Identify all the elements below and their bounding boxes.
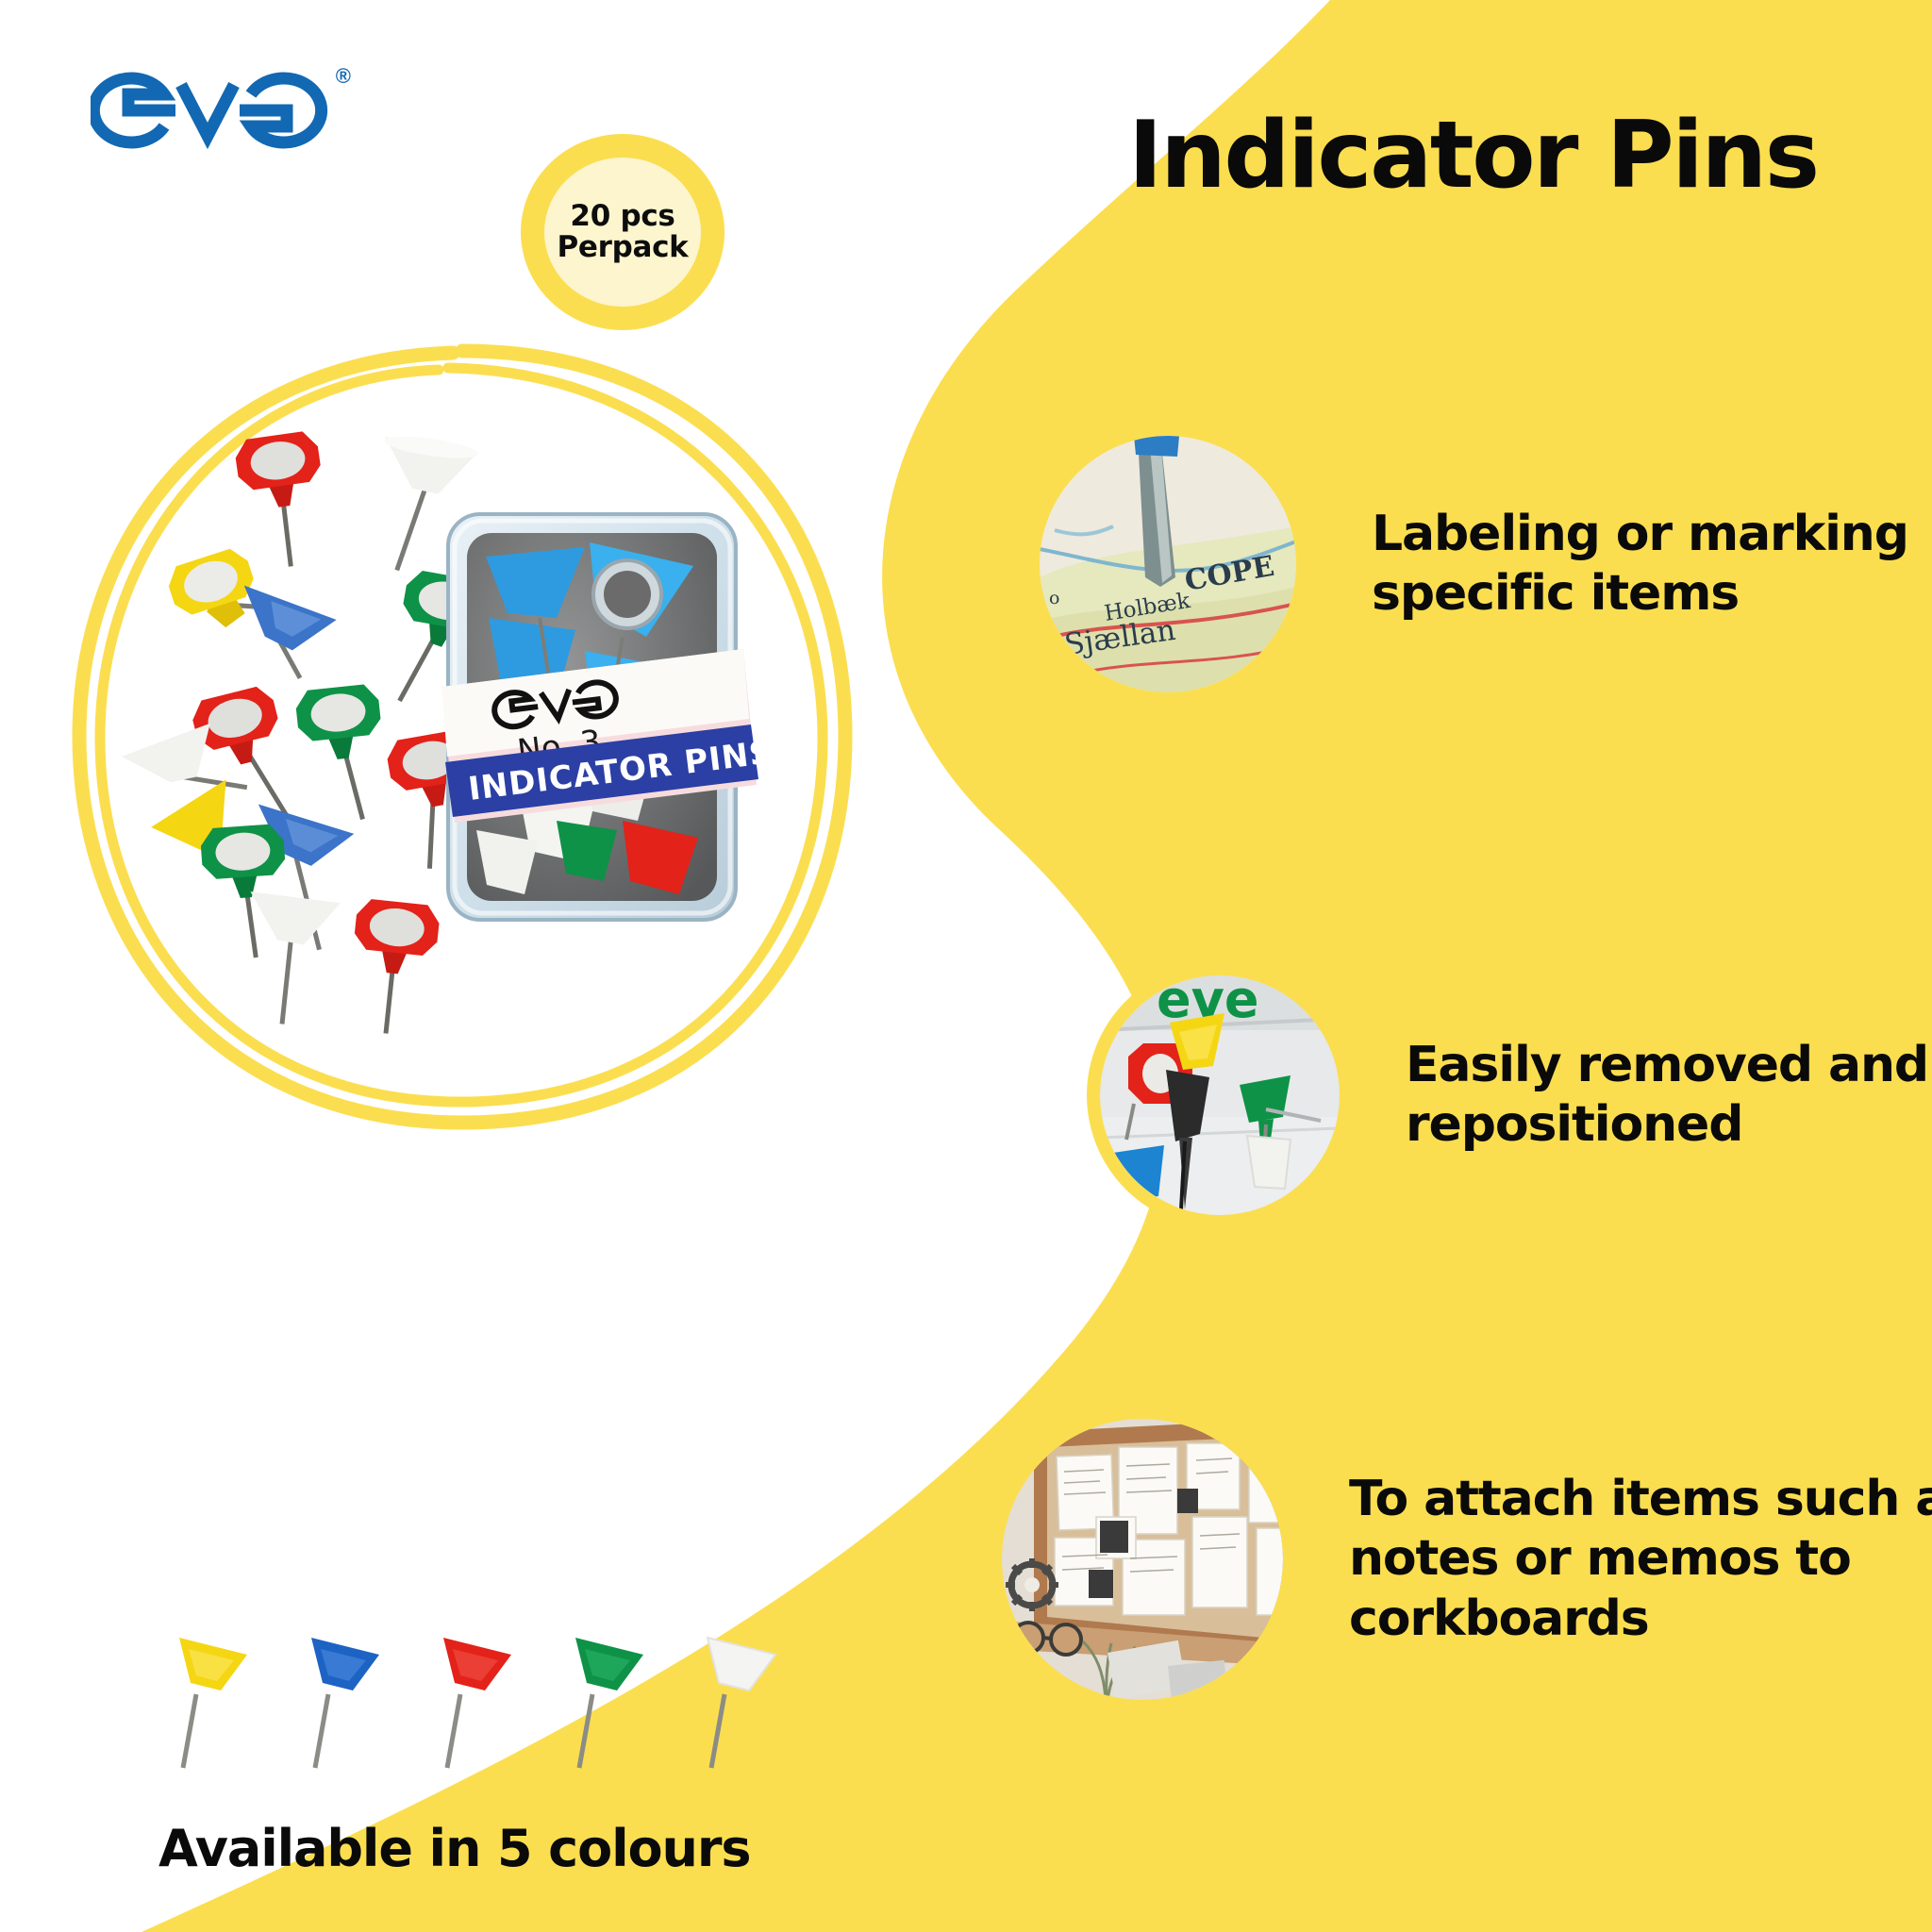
feature-corkboard: To attach items such as notes or memos t…	[989, 1406, 1932, 1713]
page-title: Indicator Pins	[1128, 102, 1818, 209]
feature-repositioned: eve	[1087, 962, 1932, 1228]
swatch-green	[564, 1628, 647, 1770]
feature-corkboard-circle	[989, 1406, 1296, 1713]
colour-swatch-row	[168, 1628, 779, 1770]
pins-on-glass-photo: eve	[1100, 975, 1340, 1215]
registered-trademark-symbol: ®	[336, 64, 351, 89]
feature-repositioned-circle: eve	[1087, 962, 1353, 1228]
brand-logo: ®	[91, 58, 345, 162]
feature-labeling: COPE Holbæk Sjællan o Labeling or markin…	[1026, 423, 1932, 706]
feature-labeling-circle: COPE Holbæk Sjællan o	[1026, 423, 1309, 706]
feature-labeling-text: Labeling or marking specific items	[1372, 505, 1932, 625]
swatch-white	[696, 1628, 779, 1770]
swatch-blue	[300, 1628, 383, 1770]
eve-logo-icon	[91, 58, 345, 162]
hero-product-image: No. 3 INDICATOR PINS	[57, 311, 868, 1160]
swatch-yellow	[168, 1628, 251, 1770]
map-with-pin-photo: COPE Holbæk Sjællan o	[1040, 436, 1296, 692]
pack-quantity-line1: 20 pcs	[570, 201, 675, 232]
swatch-red	[432, 1628, 515, 1770]
pack-quantity-line2: Perpack	[557, 232, 688, 263]
feature-repositioned-text: Easily removed and repositioned	[1406, 1036, 1932, 1156]
pack-quantity-badge: 20 pcs Perpack	[521, 134, 724, 330]
svg-text:o: o	[1049, 588, 1059, 608]
indicator-pins-product-photo: No. 3 INDICATOR PINS	[113, 415, 830, 1075]
pin-box: No. 3 INDICATOR PINS	[441, 514, 775, 920]
feature-corkboard-text: To attach items such as notes or memos t…	[1349, 1470, 1932, 1649]
colours-caption: Available in 5 colours	[158, 1819, 750, 1878]
corkboard-with-notes-photo	[1002, 1419, 1283, 1700]
pack-quantity-badge-inner: 20 pcs Perpack	[544, 158, 701, 307]
infographic-canvas: ® 20 pcs Perpack Indicator Pins	[0, 0, 1932, 1932]
